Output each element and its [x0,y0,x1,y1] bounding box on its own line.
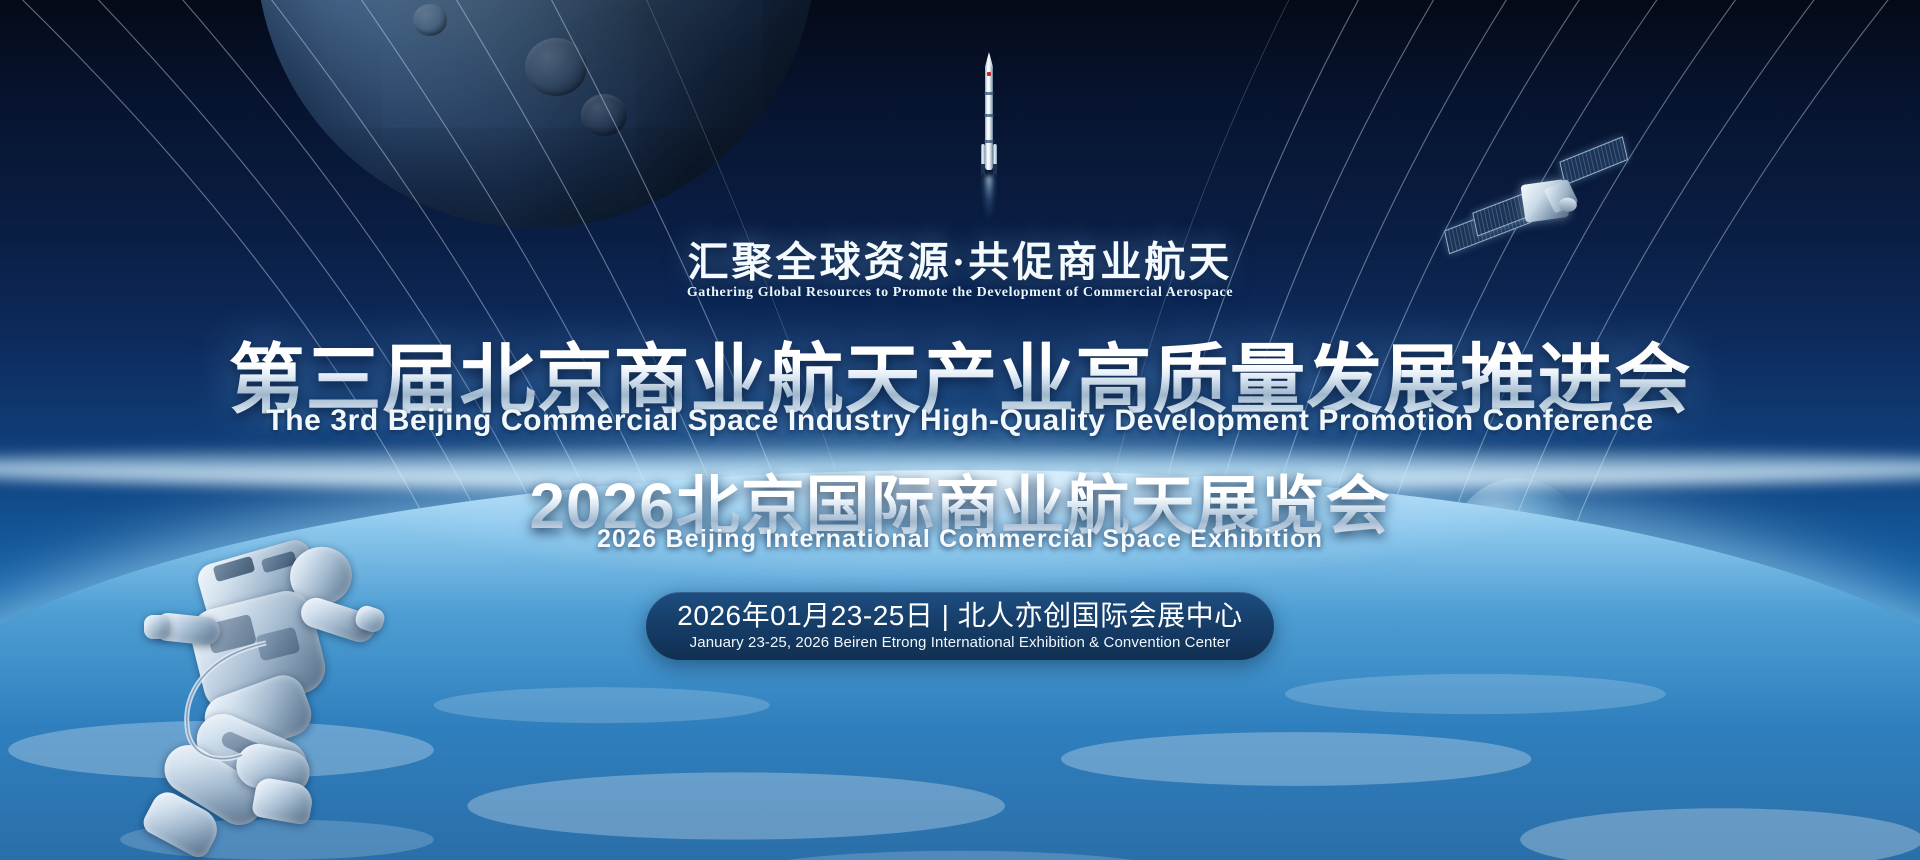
date-venue-en: January 23-25, 2026 Beiren Etrong Intern… [690,634,1231,651]
date-venue-badge: 2026年01月23-25日 | 北人亦创国际会展中心 January 23-2… [646,592,1274,660]
exhibition-title-en: 2026 Beijing International Commercial Sp… [0,525,1920,554]
date-venue-cn: 2026年01月23-25日 | 北人亦创国际会展中心 [677,601,1242,631]
conference-banner: 汇聚全球资源·共促商业航天 Gathering Global Resources… [0,0,1920,860]
page-title-en: The 3rd Beijing Commercial Space Industr… [0,404,1920,438]
tagline-cn: 汇聚全球资源·共促商业航天 [0,228,1920,288]
tagline-en: Gathering Global Resources to Promote th… [0,285,1920,301]
